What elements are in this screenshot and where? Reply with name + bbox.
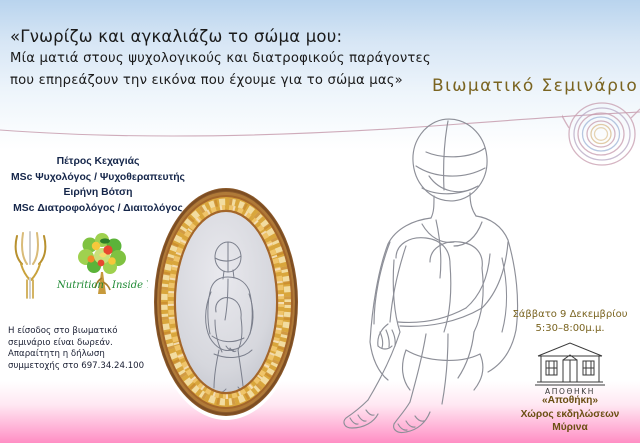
admission-note-line-1: Η είσοδος στο βιωματικό <box>8 326 148 338</box>
event-datetime: Σάββατο 9 Δεκεμβρίου 5:30–8:00μ.μ. <box>500 308 640 336</box>
admission-note-line-3: Απαραίτητη η δήλωση <box>8 349 148 361</box>
seminar-type-label: Βιωματικό Σεμινάριο <box>432 76 638 96</box>
nutrition-inside-you-logo-icon: Nutrition Inside You <box>56 232 148 298</box>
poster-headline: «Γνωρίζω και αγκαλιάζω το σώμα μου: Μία … <box>10 26 420 92</box>
event-date: Σάββατο 9 Δεκεμβρίου <box>500 308 640 322</box>
admission-note-line-2: σεμινάριο είναι δωρεάν. <box>8 338 148 350</box>
admission-note: Η είσοδος στο βιωματικό σεμινάριο είναι … <box>8 326 148 372</box>
admission-note-phone: συμμετοχής στο 697.34.24.100 <box>8 361 148 373</box>
headline-line-1: «Γνωρίζω και αγκαλιάζω το σώμα μου: <box>10 26 420 48</box>
venue-city: Μύρινα <box>500 421 640 435</box>
headline-line-3: που επηρεάζουν την εικόνα που έχουμε για… <box>10 70 420 92</box>
poster-canvas: «Γνωρίζω και αγκαλιάζω το σώμα μου: Μία … <box>0 0 640 443</box>
event-time: 5:30–8:00μ.μ. <box>500 322 640 336</box>
speaker-1-name: Πέτρος Κεχαγιάς <box>0 154 196 170</box>
headline-line-2: Μία ματιά στους ψυχολογικούς και διατροφ… <box>10 48 420 70</box>
venue-kind: Χώρος εκδηλώσεων <box>500 408 640 422</box>
mosaic-mirror-illustration <box>152 184 300 420</box>
venue-name: «Αποθήκη» <box>500 394 640 408</box>
goblet-wheat-logo-icon <box>8 228 54 302</box>
venue-block: «Αποθήκη» Χώρος εκδηλώσεων Μύρινα <box>500 394 640 435</box>
svg-text:Nutrition: Nutrition <box>56 280 104 291</box>
seated-figure-sketch <box>330 118 545 438</box>
venue-building-logo-icon: ΑΠΟΘΗΚΗ <box>532 340 608 396</box>
speaker-1-title: MSc Ψυχολόγος / Ψυχοθεραπευτής <box>0 170 196 186</box>
svg-text:Inside You: Inside You <box>111 280 148 291</box>
spiral-decoration-icon <box>562 98 640 170</box>
